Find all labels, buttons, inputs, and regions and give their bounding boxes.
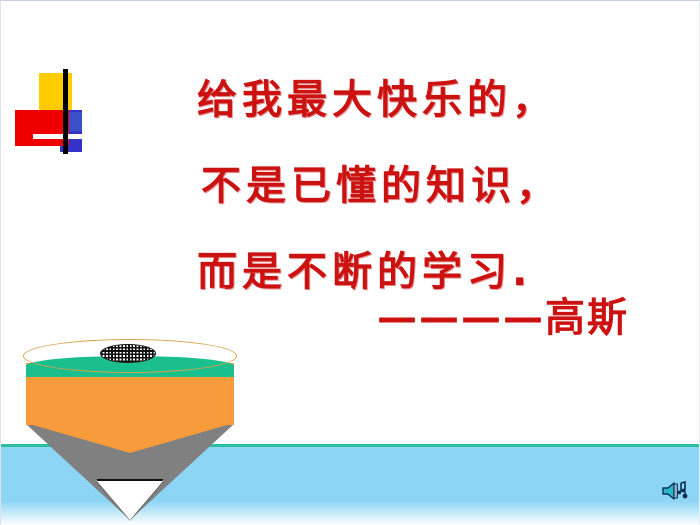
poem-line-2: 不是已懂的知识， [1,143,700,229]
white-tip-cap-line [97,479,163,481]
orange-cone-shoulder [26,423,234,453]
funnel-diagram [23,339,243,519]
white-tip-triangle [96,480,164,520]
poem-line-1: 给我最大快乐的， [1,57,700,143]
mesh-screen-icon [100,344,156,363]
speaker-icon[interactable] [660,479,690,503]
poem-attribution: ————高斯 [1,291,700,345]
poem-text-block: 给我最大快乐的， 不是已懂的知识， 而是不断的学习. [1,57,700,315]
presentation-slide: 给我最大快乐的， 不是已懂的知识， 而是不断的学习. ————高斯 [0,0,700,525]
speaker-icon-glyph [660,479,690,503]
